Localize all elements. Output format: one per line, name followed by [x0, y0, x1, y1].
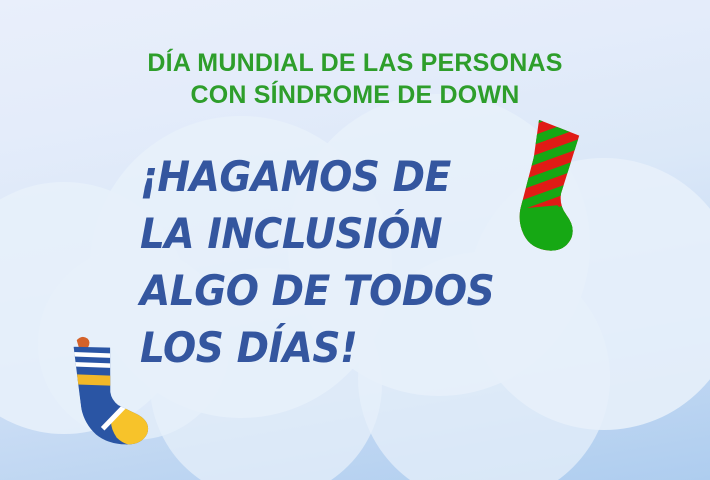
headline-line-3: ALGO DE TODOS: [140, 262, 540, 319]
poster-canvas: DÍA MUNDIAL DE LAS PERSONAS CON SÍNDROME…: [0, 0, 710, 480]
kicker-line-2: CON SÍNDROME DE DOWN: [0, 80, 710, 112]
headline-line-4: LOS DÍAS!: [140, 319, 540, 376]
headline-line-1: ¡HAGAMOS DE: [140, 148, 540, 205]
kicker-line-1: DÍA MUNDIAL DE LAS PERSONAS: [147, 49, 562, 77]
striped-sock-blue-yellow-icon: [50, 323, 171, 456]
striped-sock-green-red-icon: [491, 112, 609, 260]
headline-line-2: LA INCLUSIÓN: [140, 205, 540, 262]
kicker-heading: DÍA MUNDIAL DE LAS PERSONAS CON SÍNDROME…: [0, 48, 710, 111]
